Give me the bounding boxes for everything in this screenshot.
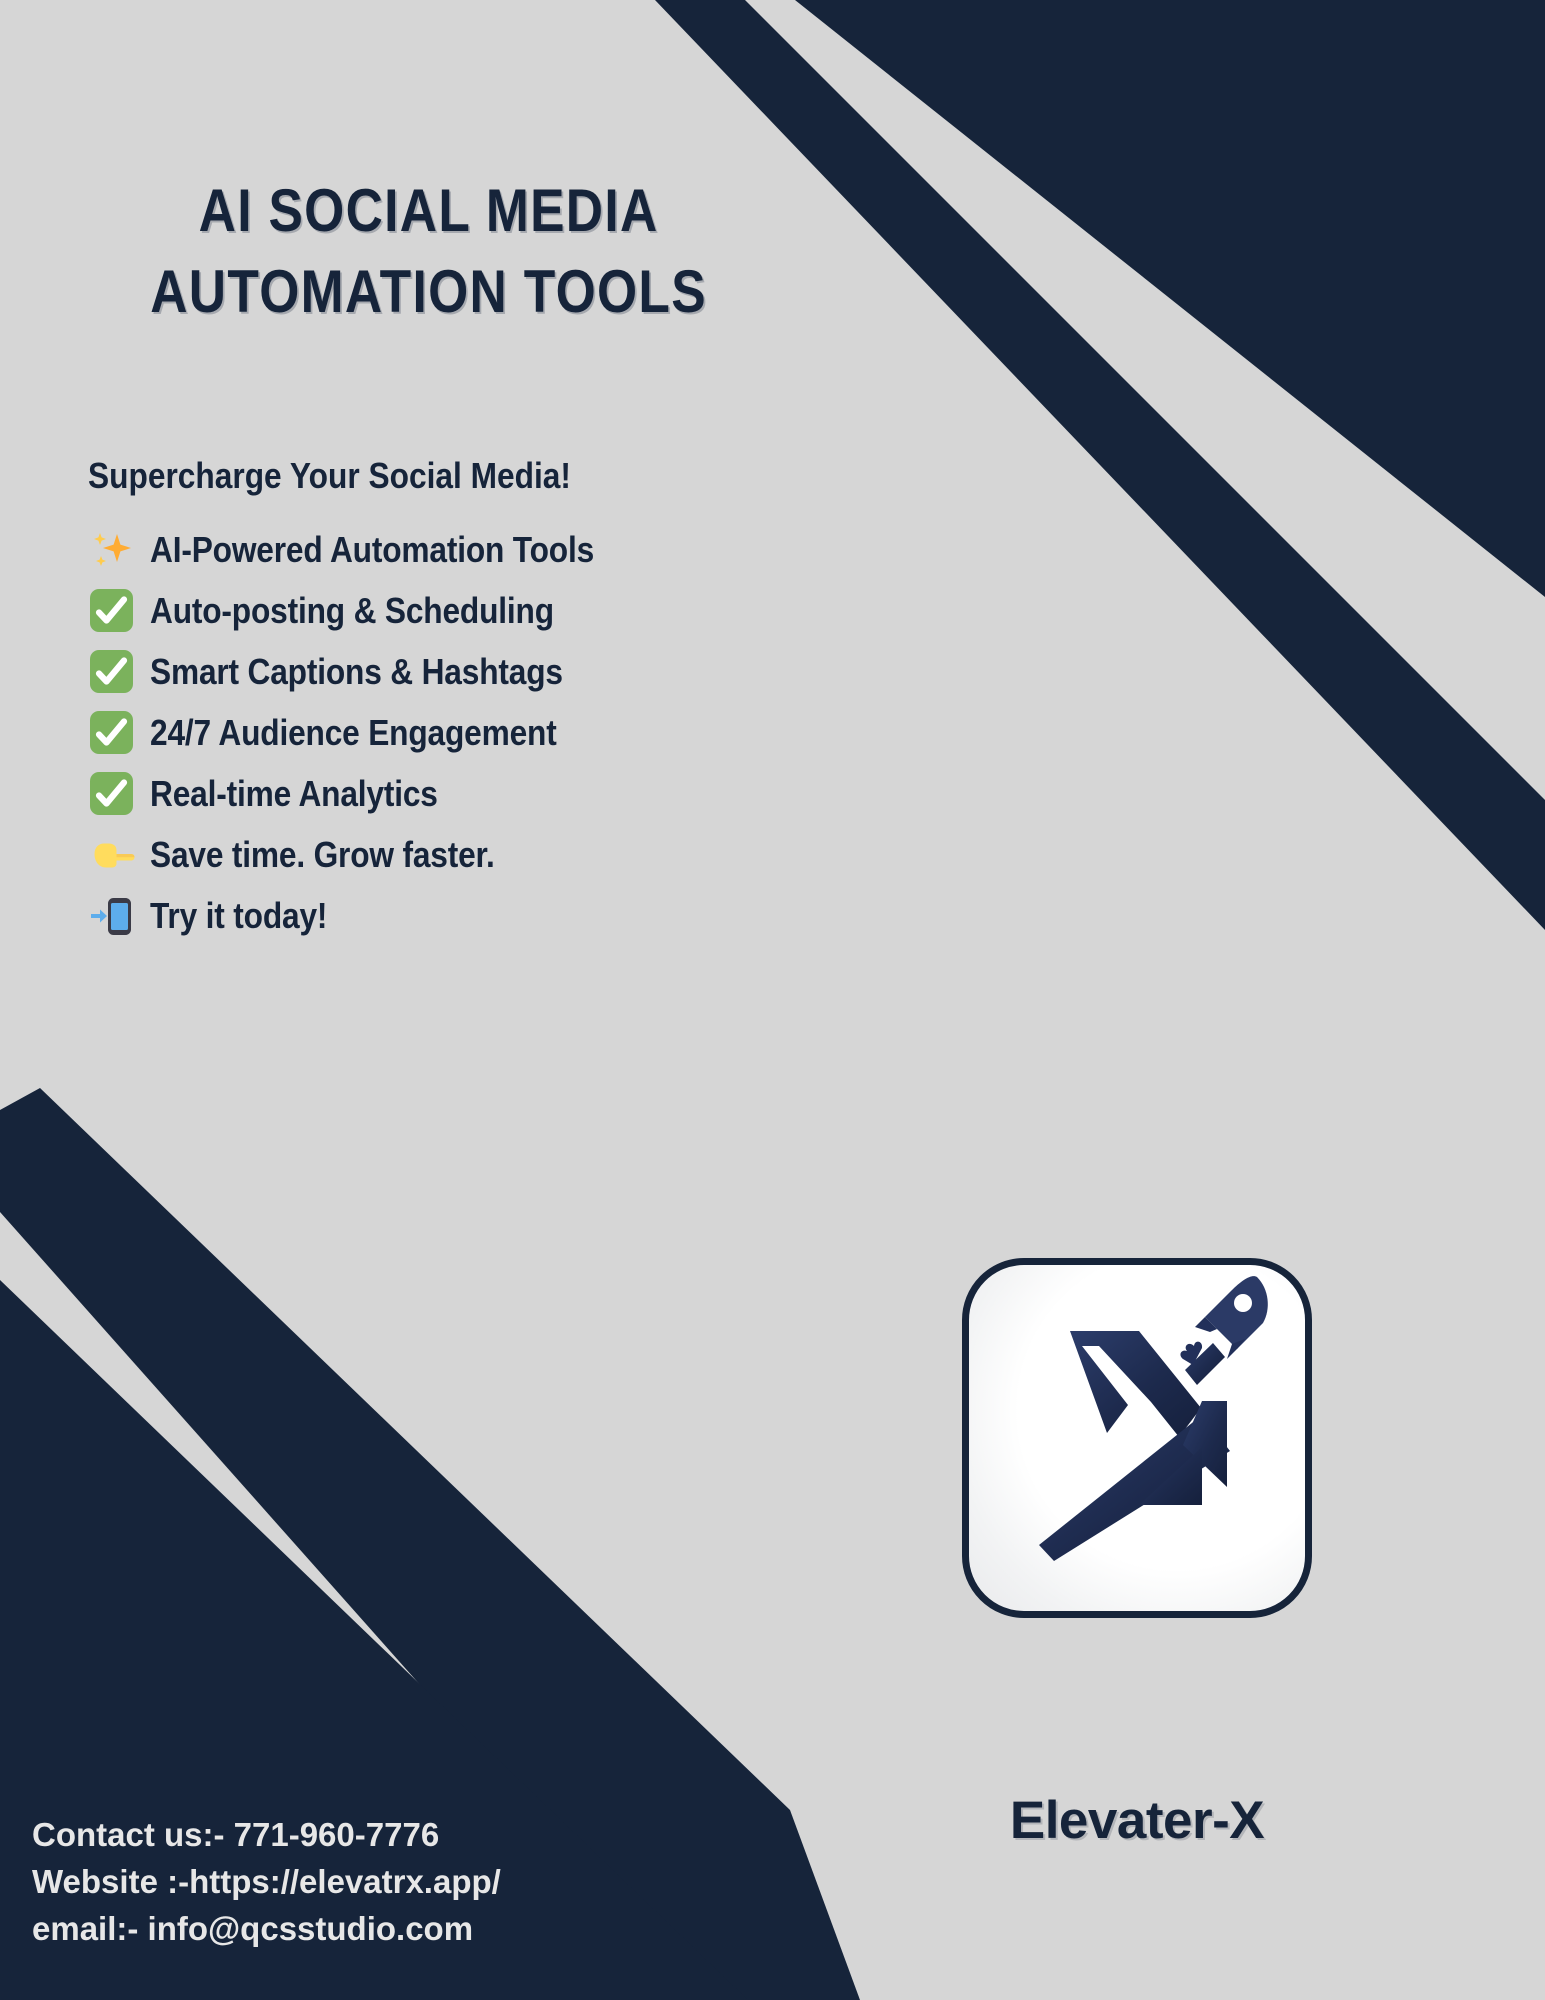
- check-mark-icon: [88, 768, 150, 820]
- list-item-label: Auto-posting & Scheduling: [150, 590, 554, 632]
- poster-canvas: AI SOCIAL MEDIA AUTOMATION TOOLS Superch…: [0, 0, 1545, 2000]
- pointing-right-hand-icon: [88, 829, 150, 881]
- feature-list-headline: Supercharge Your Social Media!: [88, 455, 808, 519]
- contact-website: Website :-https://elevatrx.app/: [32, 1859, 501, 1906]
- brand-name: Elevater-X: [962, 1790, 1312, 1851]
- list-item-label: AI-Powered Automation Tools: [150, 529, 594, 571]
- elevater-x-rocket-logo-icon: [962, 1258, 1312, 1618]
- page-title: AI SOCIAL MEDIA AUTOMATION TOOLS: [59, 170, 799, 332]
- contact-info: Contact us:- 771-960-7776 Website :-http…: [32, 1812, 501, 1953]
- list-item: 24/7 Audience Engagement: [88, 702, 808, 763]
- check-mark-icon: [88, 585, 150, 637]
- list-item: Save time. Grow faster.: [88, 824, 808, 885]
- check-mark-icon: [88, 707, 150, 759]
- mobile-phone-with-arrow-icon: [88, 890, 150, 942]
- sparkles-icon: [88, 524, 150, 576]
- contact-email: email:- info@qcsstudio.com: [32, 1906, 501, 1953]
- list-item: AI-Powered Automation Tools: [88, 519, 808, 580]
- feature-list: Supercharge Your Social Media! AI-Powere…: [88, 455, 808, 946]
- list-item: Real-time Analytics: [88, 763, 808, 824]
- list-item: Smart Captions & Hashtags: [88, 641, 808, 702]
- list-item-label: 24/7 Audience Engagement: [150, 712, 557, 754]
- list-item: Try it today!: [88, 885, 808, 946]
- contact-phone: Contact us:- 771-960-7776: [32, 1812, 501, 1859]
- list-item-label: Real-time Analytics: [150, 773, 438, 815]
- list-item-label: Smart Captions & Hashtags: [150, 651, 563, 693]
- list-item: Auto-posting & Scheduling: [88, 580, 808, 641]
- check-mark-icon: [88, 646, 150, 698]
- list-item-label: Save time. Grow faster.: [150, 834, 495, 876]
- feature-list-headline-text: Supercharge Your Social Media!: [88, 455, 571, 497]
- list-item-label: Try it today!: [150, 895, 327, 937]
